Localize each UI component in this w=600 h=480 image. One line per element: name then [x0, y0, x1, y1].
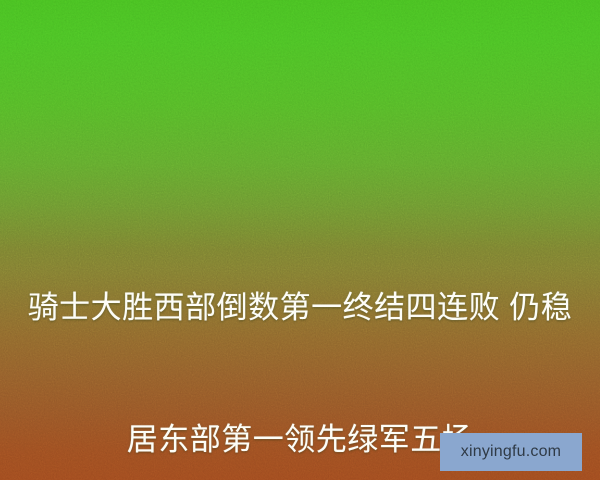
watermark-badge[interactable]: xinyingfu.com — [440, 433, 582, 471]
news-thumbnail-card: 骑士大胜西部倒数第一终结四连败 仍稳 居东部第一领先绿军五场 xinyingfu… — [0, 0, 600, 480]
watermark-label: xinyingfu.com — [461, 444, 561, 460]
headline-line-1: 骑士大胜西部倒数第一终结四连败 仍稳 — [26, 286, 574, 330]
